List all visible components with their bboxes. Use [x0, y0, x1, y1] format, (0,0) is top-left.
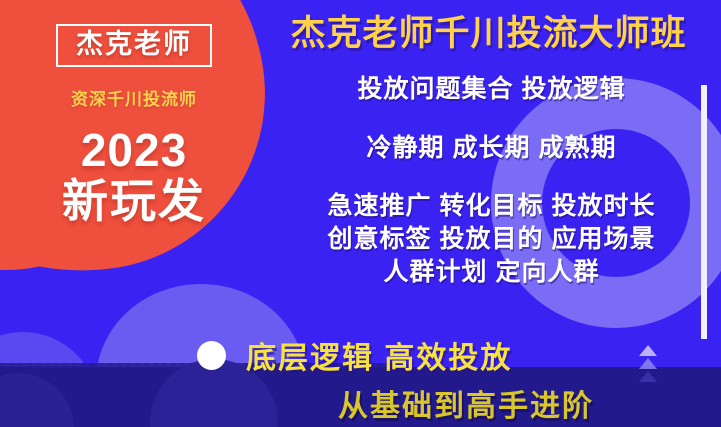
purple-blob-bottom-left-decoration — [0, 332, 98, 427]
course-promo-poster: 杰克老师 资深千川投流师 2023 新玩发 杰克老师千川投流大师班 投放问题集合… — [0, 0, 721, 427]
course-topic-list: 急速推广 转化目标 投放时长 创意标签 投放目的 应用场景 人群计划 定向人群 — [262, 190, 721, 289]
course-content-panel: 杰克老师千川投流大师班 投放问题集合 投放逻辑 冷静期 成长期 成熟期 急速推广… — [262, 0, 721, 289]
instructor-panel: 杰克老师 资深千川投流师 2023 新玩发 — [0, 0, 268, 300]
tagline-secondary: 从基础到高手进阶 — [338, 381, 594, 425]
course-subline-1: 投放问题集合 投放逻辑 — [262, 69, 721, 105]
year-caption: 新玩发 — [0, 177, 268, 225]
up-triangle-icon-2 — [639, 358, 657, 369]
year-label: 2023 — [0, 127, 268, 173]
tagline-primary: 底层逻辑 高效投放 — [246, 333, 512, 377]
navy-circle-left-decoration — [0, 373, 74, 427]
course-headline: 杰克老师千川投流大师班 — [262, 16, 721, 51]
up-triangle-icon-3 — [639, 371, 657, 382]
up-triangle-icon — [639, 345, 657, 356]
instructor-name-box: 杰克老师 — [56, 24, 212, 67]
white-bullet-dot-icon — [197, 341, 226, 370]
instructor-name: 杰克老师 — [76, 31, 192, 58]
course-subline-2: 冷静期 成长期 成熟期 — [262, 128, 721, 164]
instructor-subtitle: 资深千川投流师 — [0, 85, 268, 110]
course-topic-row: 急速推广 转化目标 投放时长 — [262, 190, 721, 223]
course-topic-row: 人群计划 定向人群 — [262, 256, 721, 289]
course-topic-row: 创意标签 投放目的 应用场景 — [262, 223, 721, 256]
